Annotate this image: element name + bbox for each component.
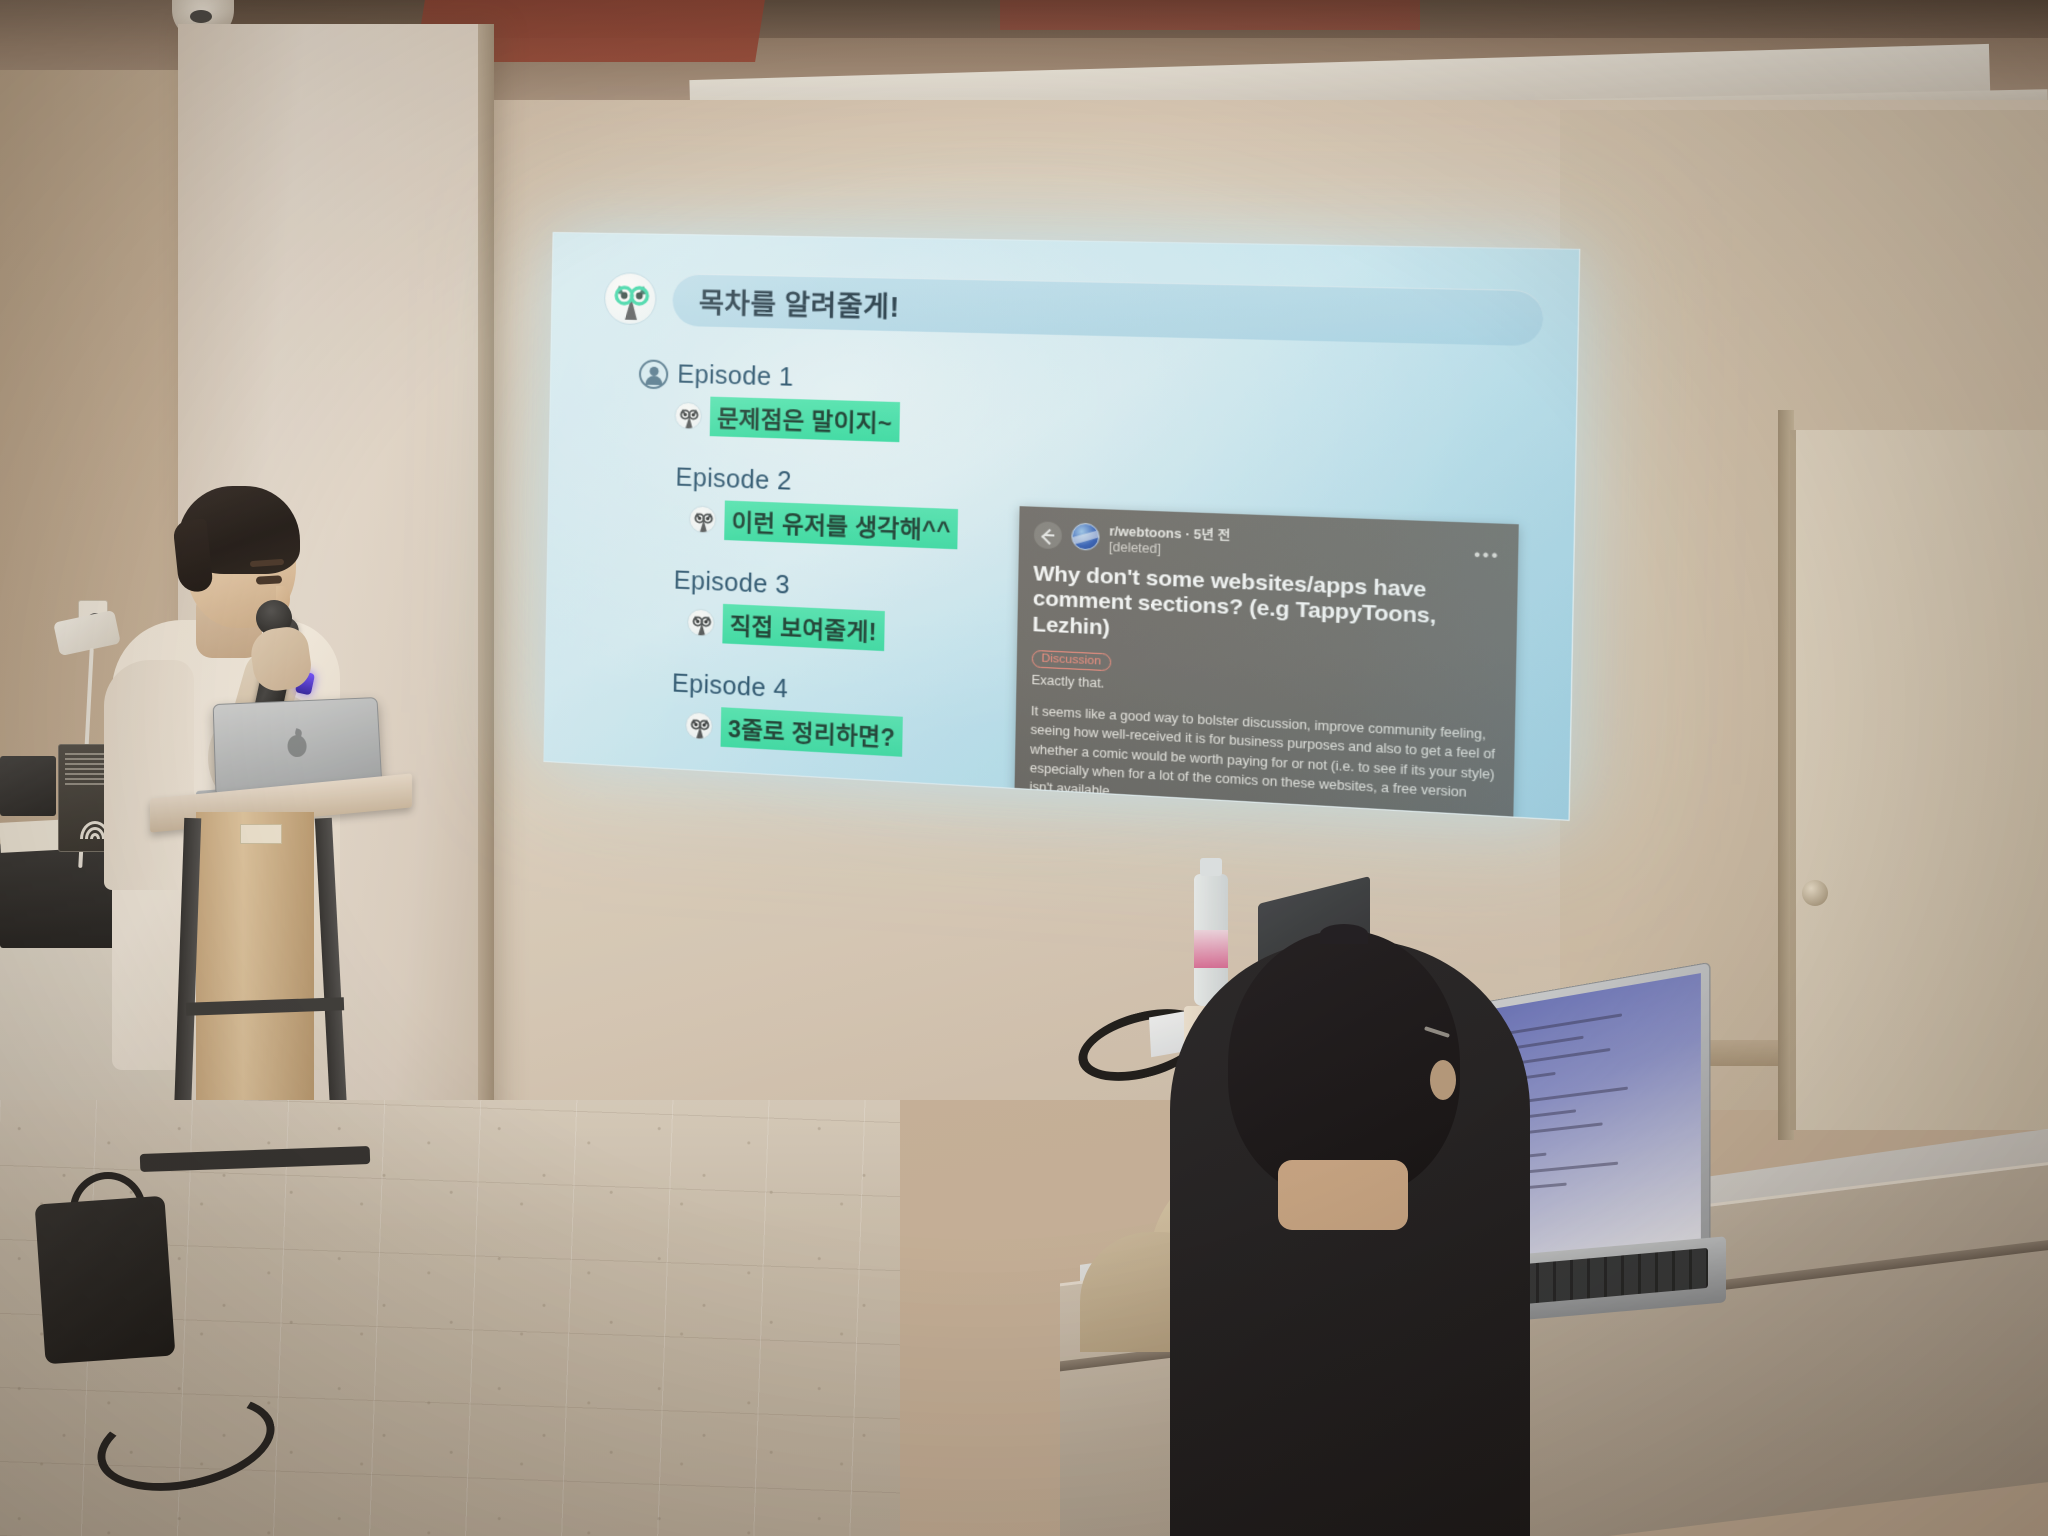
owl-mascot-icon [674, 402, 702, 430]
reddit-post-title: Why don't some websites/apps have commen… [1032, 561, 1499, 660]
slide-title-pill: 목차를 알려줄게! [672, 273, 1544, 346]
reddit-post-meta: r/webtoons · 5년 전 [deleted] [1109, 524, 1464, 569]
more-options-icon[interactable]: ••• [1474, 546, 1500, 566]
episode-heading: Episode 1 [639, 359, 1024, 399]
audience-neck [1278, 1160, 1408, 1230]
person-circle-icon [639, 359, 669, 389]
photo-scene: 목차를 알려줄게! Episode 1 [0, 0, 2048, 1536]
slide-title: 목차를 알려줄게! [699, 280, 900, 324]
door-knob[interactable] [1802, 880, 1828, 906]
owl-mascot-icon [604, 272, 657, 325]
episode-label: Episode 1 [677, 360, 794, 393]
episode-list: Episode 1 [574, 358, 1024, 792]
bottle-label [1194, 930, 1228, 968]
audience-ear [1430, 1060, 1456, 1100]
ceiling-beam-red-secondary [1000, 0, 1420, 30]
episode-block: Episode 4 [633, 667, 1019, 763]
episode-label: Episode 3 [673, 566, 790, 600]
episode-block: Episode 1 [638, 359, 1024, 446]
subreddit-label: r/webtoons [1109, 524, 1182, 541]
apple-logo-icon [287, 735, 307, 758]
post-flair-badge[interactable]: Discussion [1032, 650, 1111, 671]
episode-label: Episode 4 [672, 669, 789, 704]
presenter-eye [256, 575, 282, 584]
slide: 목차를 알려줄게! Episode 1 [544, 233, 1579, 820]
owl-mascot-icon [687, 608, 715, 637]
episode-highlight: 직접 보여줄게! [722, 604, 884, 651]
episode-area: Episode 1 [574, 358, 1542, 821]
presenter-shoulder [104, 660, 194, 890]
bottle-cap [1200, 858, 1222, 876]
subreddit-avatar-icon [1071, 523, 1099, 551]
episode-block: Episode 2 [636, 462, 1022, 552]
audience-head [1228, 930, 1460, 1198]
episode-subtitle-row: 직접 보여줄게! [634, 600, 1019, 658]
episode-highlight: 문제점은 말이지~ [710, 397, 900, 443]
episode-subtitle-row: 이런 유저를 생각해^^ [636, 497, 1021, 552]
post-age: 5년 전 [1194, 527, 1231, 543]
episode-highlight: 3줄로 정리하면? [721, 707, 903, 757]
reddit-post-header: r/webtoons · 5년 전 [deleted] ••• [1034, 521, 1500, 570]
episode-block: Episode 3 [634, 565, 1020, 658]
slide-title-row: 목차를 알려줄게! [604, 272, 1544, 346]
counter-appliance [0, 756, 56, 816]
episode-subtitle-row: 문제점은 말이지~ [638, 395, 1024, 447]
episode-highlight: 이런 유저를 생각해^^ [724, 500, 958, 549]
podium-label [240, 824, 282, 844]
episode-label: Episode 2 [675, 463, 792, 496]
projector-screen: 목차를 알려줄게! Episode 1 [543, 232, 1580, 821]
owl-mascot-icon [685, 711, 713, 740]
audience-hair [1320, 924, 1368, 944]
owl-mascot-icon [689, 505, 717, 533]
back-arrow-icon[interactable] [1034, 521, 1062, 549]
reddit-post-card: r/webtoons · 5년 전 [deleted] ••• Why don'… [1014, 506, 1519, 821]
meta-separator: · [1185, 527, 1190, 542]
door[interactable] [1790, 430, 2048, 1130]
backpack [35, 1196, 176, 1365]
